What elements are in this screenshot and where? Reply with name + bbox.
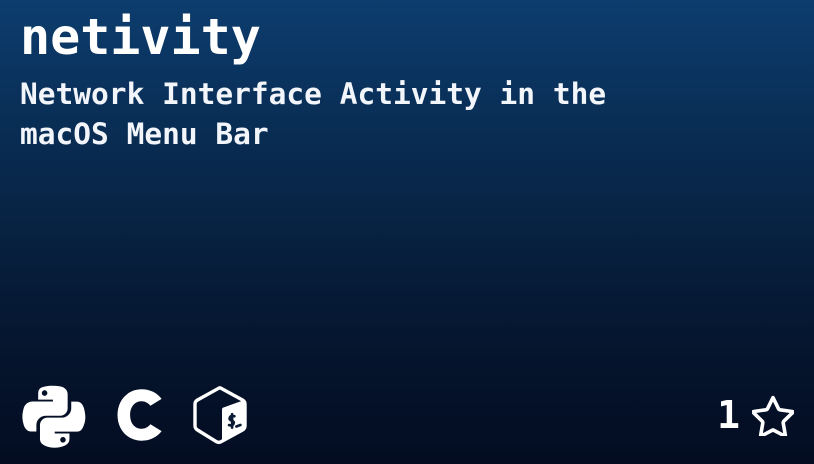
star-count-group: 1: [717, 386, 794, 444]
repository-social-preview-card: netivity Network Interface Activity in t…: [0, 0, 814, 464]
star-icon: [752, 394, 794, 436]
project-description: Network Interface Activity in the macOS …: [20, 74, 700, 154]
project-description-line-2: macOS Menu Bar: [20, 114, 700, 154]
c-icon: [108, 384, 170, 446]
language-item-shell: [192, 386, 250, 444]
page-title: netivity: [20, 8, 794, 67]
language-icon-list: [20, 384, 250, 446]
python-icon: [20, 382, 86, 448]
footer: 1: [20, 384, 794, 446]
project-description-line-1: Network Interface Activity in the: [20, 74, 700, 114]
header: netivity Network Interface Activity in t…: [20, 8, 794, 154]
shell-icon: [192, 385, 250, 445]
language-item-c: [108, 386, 170, 444]
star-count: 1: [717, 396, 740, 434]
language-item-python: [20, 386, 86, 444]
